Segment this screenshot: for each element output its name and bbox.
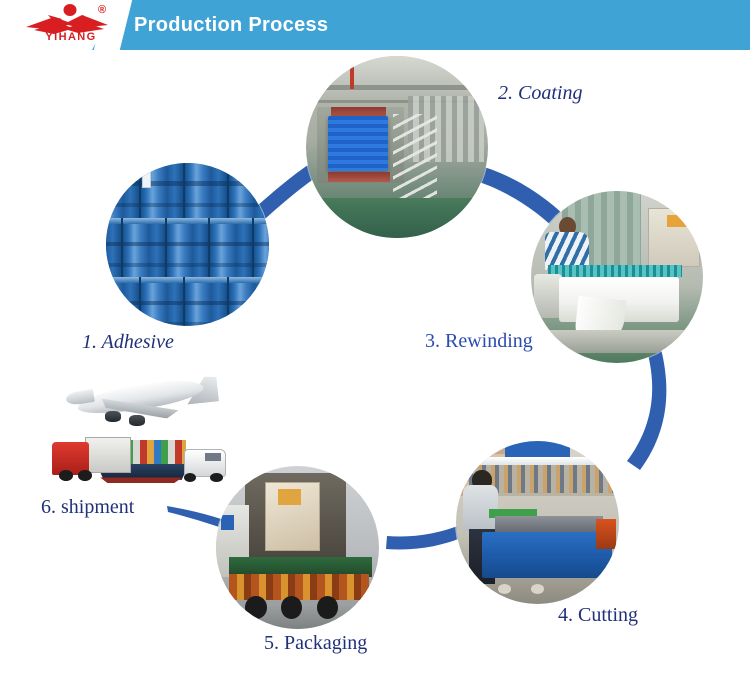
shipment-photo: [52, 376, 228, 494]
production-process-infographic: ® YIHANG Production Process: [0, 0, 750, 677]
step-cutting-label: 4. Cutting: [558, 604, 638, 627]
connector-rewinding-to-cutting: [627, 345, 666, 470]
step-coating-label: 2. Coating: [498, 82, 582, 105]
coating-photo: [306, 56, 488, 238]
step-adhesive-label: 1. Adhesive: [82, 331, 174, 354]
step-rewinding-label: 3. Rewinding: [425, 330, 533, 353]
step-packaging-label: 5. Packaging: [264, 632, 367, 655]
connector-cutting-to-packaging: [386, 524, 466, 549]
packaging-photo: [216, 466, 379, 629]
rewinding-photo: [531, 191, 703, 363]
cutting-photo: [456, 441, 619, 604]
adhesive-photo: [106, 163, 269, 326]
step-shipment-label: 6. shipment: [41, 496, 134, 519]
